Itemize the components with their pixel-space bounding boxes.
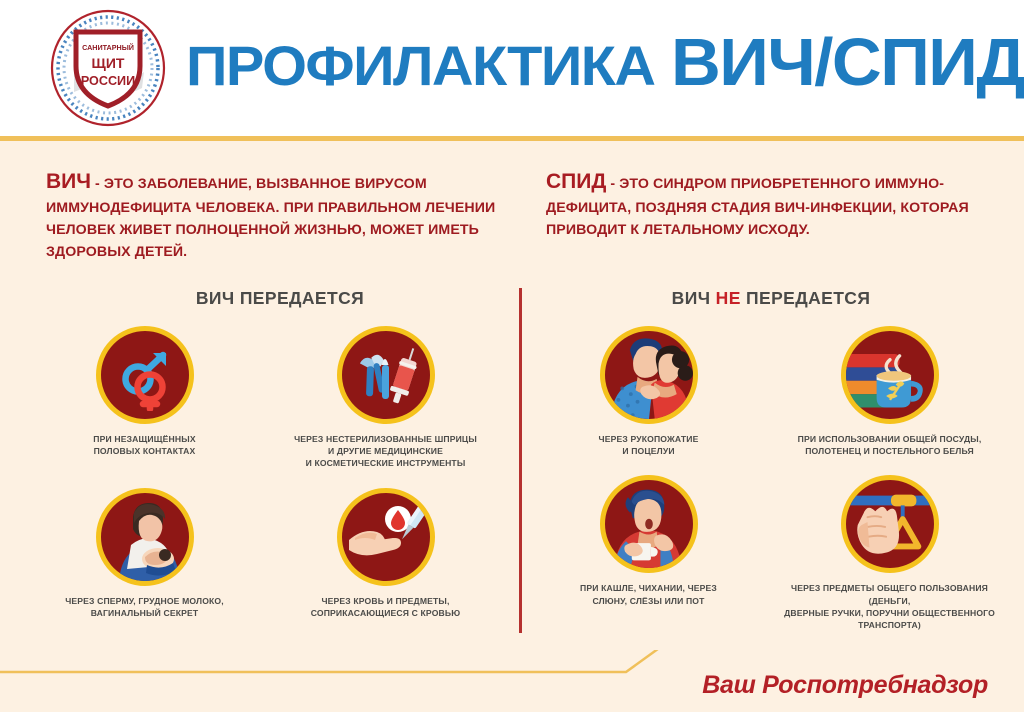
logo-line3: РОССИИ: [81, 74, 135, 88]
list-item: ЧЕРЕЗ НЕСТЕРИЛИЗОВАННЫЕ ШПРИЦЫ И ДРУГИЕ …: [271, 326, 500, 470]
page-title-part2: ВИЧ/СПИД: [671, 25, 1024, 100]
poster-header: САНИТАРНЫЙ ЩИТ РОССИИ ПРОФИЛАКТИКА ВИЧ/С…: [0, 0, 1024, 136]
list-item: ЧЕРЕЗ СПЕРМУ, ГРУДНОЕ МОЛОКО, ВАГИНАЛЬНЫ…: [30, 488, 259, 619]
hand-blood-drop-lancet-icon: [337, 488, 435, 586]
list-item: ПРИ КАШЛЕ, ЧИХАНИИ, ЧЕРЕЗ СЛЮНУ, СЛЁЗЫ И…: [534, 475, 763, 631]
poster-root: САНИТАРНЫЙ ЩИТ РОССИИ ПРОФИЛАКТИКА ВИЧ/С…: [0, 0, 1024, 712]
list-item: ЧЕРЕЗ РУКОПОЖАТИЕ И ПОЦЕЛУИ: [534, 326, 763, 457]
intro-hiv-body: - ЭТО ЗАБОЛЕВАНИЕ, ВЫЗВАННОЕ ВИРУСОМ ИММ…: [46, 176, 495, 260]
heading-transmitted: ВИЧ ПЕРЕДАЕТСЯ: [70, 288, 490, 309]
logo-line1: САНИТАРНЫЙ: [82, 43, 134, 52]
list-item: ПРИ НЕЗАЩИЩЁННЫХ ПОЛОВЫХ КОНТАКТАХ: [30, 326, 259, 470]
sanitary-shield-of-russia-logo: САНИТАРНЫЙ ЩИТ РОССИИ: [38, 8, 178, 128]
intro-aids-lead: СПИД: [546, 170, 606, 193]
logo-line2: ЩИТ: [92, 55, 125, 71]
heading-not-transmitted-negation: НЕ: [716, 288, 741, 308]
page-title-part1: ПРОФИЛАКТИКА: [186, 34, 655, 97]
list-item-caption: ЧЕРЕЗ ПРЕДМЕТЫ ОБЩЕГО ПОЛЬЗОВАНИЯ (ДЕНЬГ…: [775, 582, 1004, 631]
intro-hiv-lead: ВИЧ: [46, 170, 91, 193]
list-item-caption: ПРИ ИСПОЛЬЗОВАНИИ ОБЩЕЙ ПОСУДЫ, ПОЛОТЕНЕ…: [798, 433, 982, 457]
list-item: ЧЕРЕЗ ПРЕДМЕТЫ ОБЩЕГО ПОЛЬЗОВАНИЯ (ДЕНЬГ…: [775, 475, 1004, 631]
gender-symbols-icon: [96, 326, 194, 424]
page-title: ПРОФИЛАКТИКА ВИЧ/СПИД: [186, 24, 1024, 101]
breastfeeding-mother-icon: [96, 488, 194, 586]
heading-not-transmitted-suffix: ПЕРЕДАЕТСЯ: [741, 288, 871, 308]
mug-and-towels-icon-cell: ПРИ ИСПОЛЬЗОВАНИИ ОБЩЕЙ ПОСУДЫ, ПОЛОТЕНЕ…: [775, 326, 1004, 457]
not-transmitted-icon-grid: ЧЕРЕЗ РУКОПОЖАТИЕ И ПОЦЕЛУИ: [534, 326, 1004, 631]
intro-aids-definition: СПИД - ЭТО СИНДРОМ ПРИОБРЕТЕННОГО ИММУНО…: [546, 166, 996, 242]
list-item-caption: ЧЕРЕЗ НЕСТЕРИЛИЗОВАННЫЕ ШПРИЦЫ И ДРУГИЕ …: [294, 433, 477, 470]
coughing-woman-icon: [600, 475, 698, 573]
list-item-caption: ЧЕРЕЗ СПЕРМУ, ГРУДНОЕ МОЛОКО, ВАГИНАЛЬНЫ…: [65, 595, 224, 619]
list-item-caption: ЧЕРЕЗ КРОВЬ И ПРЕДМЕТЫ, СОПРИКАСАЮЩИЕСЯ …: [311, 595, 460, 619]
medical-instruments-syringe-icon: [337, 326, 435, 424]
column-divider: [519, 288, 522, 633]
list-item: ЧЕРЕЗ КРОВЬ И ПРЕДМЕТЫ, СОПРИКАСАЮЩИЕСЯ …: [271, 488, 500, 619]
transmitted-icon-grid: ПРИ НЕЗАЩИЩЁННЫХ ПОЛОВЫХ КОНТАКТАХ: [30, 326, 500, 619]
list-item-caption: ЧЕРЕЗ РУКОПОЖАТИЕ И ПОЦЕЛУИ: [599, 433, 699, 457]
header-divider-rule: [0, 136, 1024, 141]
list-item-caption: ПРИ КАШЛЕ, ЧИХАНИИ, ЧЕРЕЗ СЛЮНУ, СЛЁЗЫ И…: [580, 582, 717, 606]
footer-brand-text: Ваш Роспотребнадзор: [702, 671, 988, 700]
mug-and-towels-icon: [841, 326, 939, 424]
list-item-caption: ПРИ НЕЗАЩИЩЁННЫХ ПОЛОВЫХ КОНТАКТАХ: [93, 433, 195, 457]
transit-handrail-grip-icon: [841, 475, 939, 573]
intro-aids-body: - ЭТО СИНДРОМ ПРИОБРЕТЕННОГО ИММУНО-ДЕФИ…: [546, 176, 969, 238]
heading-not-transmitted: ВИЧ НЕ ПЕРЕДАЕТСЯ: [556, 288, 986, 309]
embracing-couple-icon: [600, 326, 698, 424]
heading-not-transmitted-prefix: ВИЧ: [672, 288, 716, 308]
intro-hiv-definition: ВИЧ - ЭТО ЗАБОЛЕВАНИЕ, ВЫЗВАННОЕ ВИРУСОМ…: [46, 166, 516, 263]
